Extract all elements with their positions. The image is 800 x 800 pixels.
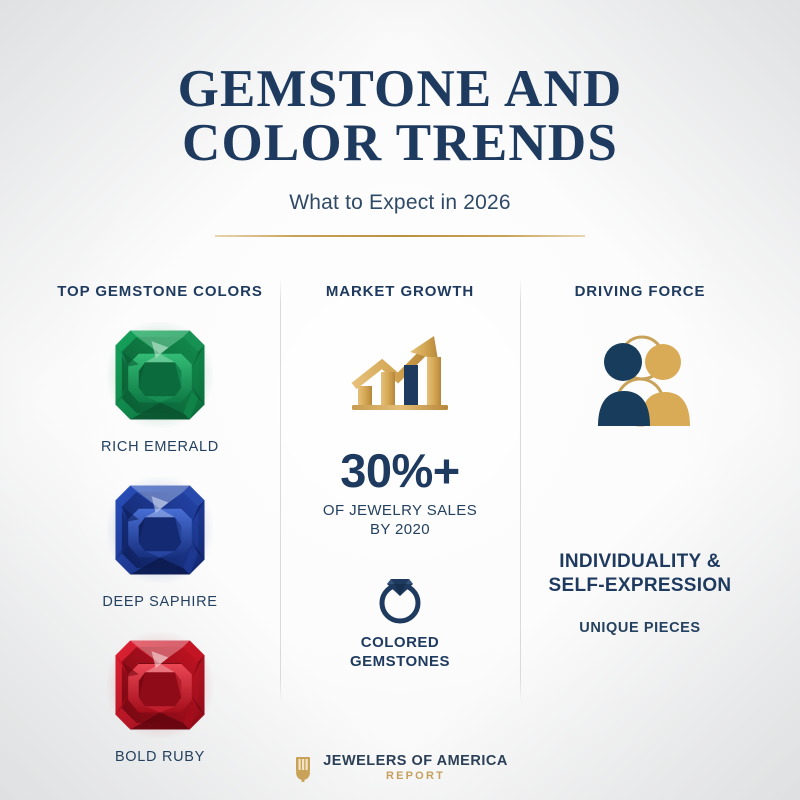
sapphire-gem-icon [107, 477, 213, 583]
diamond-ring-icon [369, 565, 431, 627]
driving-force-headline-line2: SELF-EXPRESSION [520, 574, 760, 598]
jewelers-of-america-emblem-icon [292, 754, 314, 782]
growth-bar-chart-icon [348, 326, 452, 414]
column-market-growth: MARKET GROWTH [280, 278, 520, 703]
market-stat-value: 30%+ [280, 446, 520, 496]
gem-item-ruby: BOLD RUBY [40, 632, 280, 765]
ring-caption: COLORED GEMSTONES [280, 633, 520, 671]
footer: JEWELERS OF AMERICA REPORT [0, 753, 800, 782]
driving-force-headline-line1: INDIVIDUALITY & [520, 550, 760, 574]
header: GEMSTONE AND COLOR TRENDS What to Expect… [0, 62, 800, 237]
ruby-gem-icon [107, 632, 213, 738]
page-subtitle: What to Expect in 2026 [0, 191, 800, 215]
footer-brand-name: JEWELERS OF AMERICA [323, 753, 508, 769]
columns-container: TOP GEMSTONE COLORS [40, 278, 760, 703]
column-heading-market: MARKET GROWTH [280, 283, 520, 300]
column-top-gemstone-colors: TOP GEMSTONE COLORS [40, 278, 280, 703]
page-title: GEMSTONE AND COLOR TRENDS [0, 62, 800, 170]
emerald-gem-icon [107, 322, 213, 428]
page-title-line1: GEMSTONE AND [0, 62, 800, 116]
gold-divider [215, 235, 585, 237]
ring-caption-line1: COLORED [280, 633, 520, 652]
footer-report-label: REPORT [323, 770, 508, 782]
column-driving-force: DRIVING FORCE INDIVIDUALITY & SELF-EXPRE… [520, 278, 760, 703]
two-people-icon [580, 330, 700, 430]
footer-text: JEWELERS OF AMERICA REPORT [323, 753, 508, 782]
column-heading-driving: DRIVING FORCE [520, 283, 760, 300]
gem-label-sapphire: DEEP SAPHIRE [40, 594, 280, 610]
page-title-line2: COLOR TRENDS [0, 116, 800, 170]
ring-caption-line2: GEMSTONES [280, 652, 520, 671]
market-stat-caption: OF JEWELRY SALES BY 2020 [280, 501, 520, 539]
driving-force-headline: INDIVIDUALITY & SELF-EXPRESSION [520, 550, 760, 598]
gem-label-emerald: RICH EMERALD [40, 439, 280, 455]
gem-item-sapphire: DEEP SAPHIRE [40, 477, 280, 610]
gem-item-emerald: RICH EMERALD [40, 322, 280, 455]
driving-force-subtext: UNIQUE PIECES [520, 620, 760, 636]
market-stat-caption-line1: OF JEWELRY SALES [280, 501, 520, 520]
market-stat-caption-line2: BY 2020 [280, 520, 520, 539]
column-heading-gems: TOP GEMSTONE COLORS [40, 283, 280, 300]
